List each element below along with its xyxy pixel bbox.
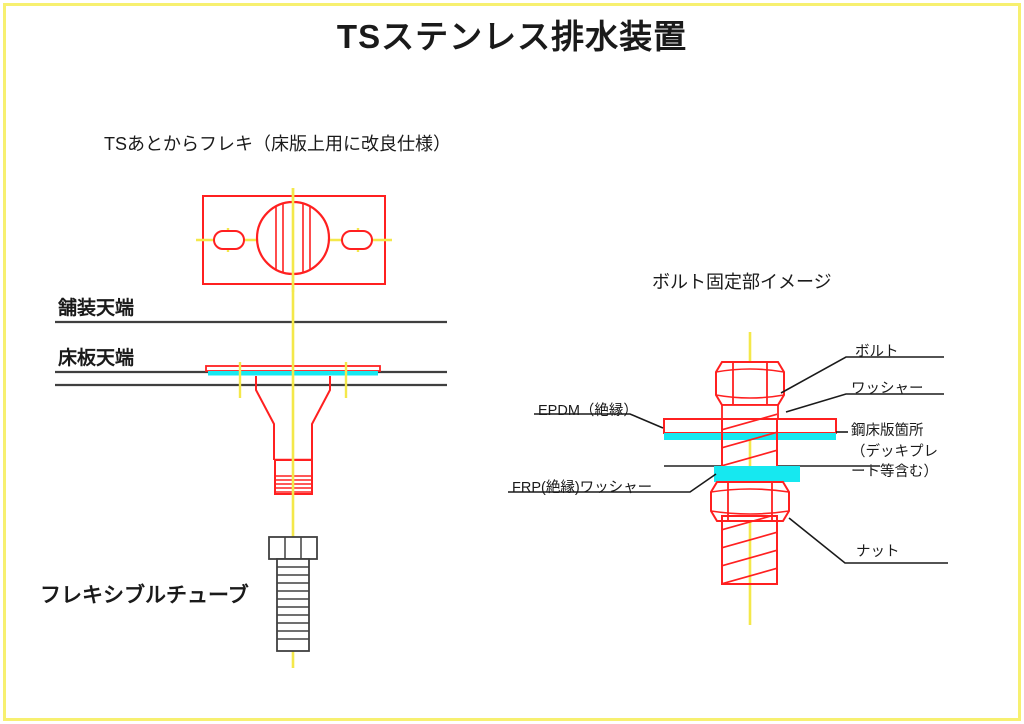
flexible-tube-drawing — [269, 537, 317, 651]
tube-collar — [269, 537, 317, 559]
tube-body — [277, 559, 309, 651]
bolt-detail-group — [508, 332, 948, 625]
epdm-insulation-layer — [664, 433, 836, 440]
leader-nut — [789, 518, 948, 563]
frp-insulation-washer — [714, 466, 800, 482]
drain-body-right-wall — [312, 376, 330, 460]
technical-drawing-canvas — [0, 0, 1024, 724]
leader-bolt — [781, 357, 944, 393]
drain-body-left-wall — [256, 376, 274, 460]
leader-frp — [508, 474, 716, 492]
slide-page: TSステンレス排水装置 TSあとからフレキ（床版上用に改良仕様） ボルト固定部イ… — [0, 0, 1024, 724]
leader-epdm — [534, 414, 663, 428]
hex-bolt-head — [716, 362, 784, 419]
leader-washer — [786, 394, 944, 412]
